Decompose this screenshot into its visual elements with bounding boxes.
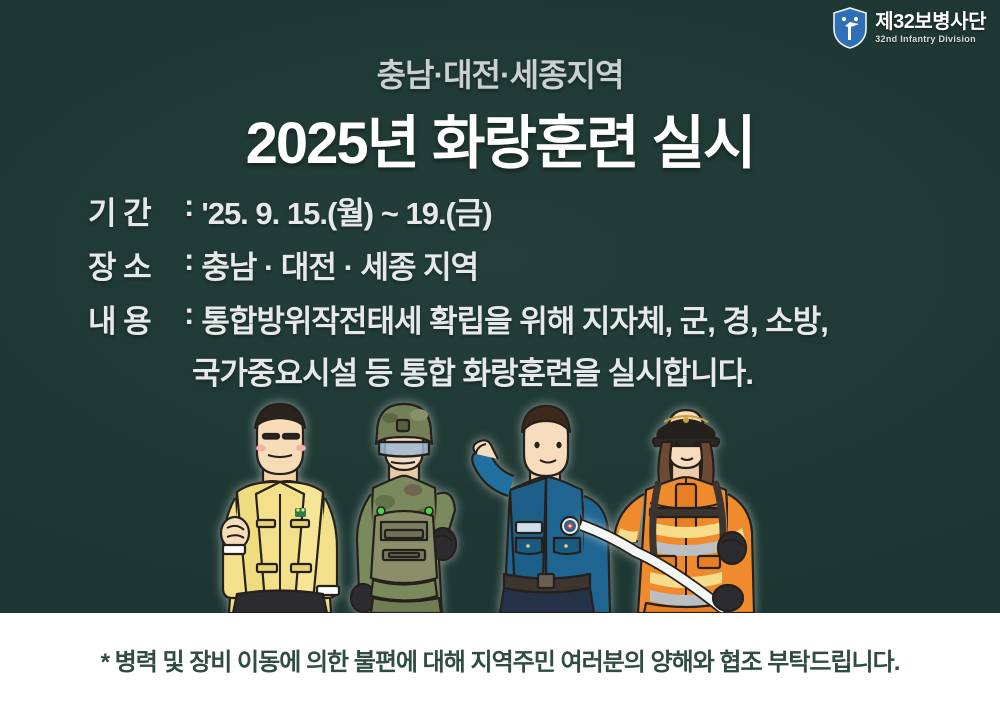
footer-note: * 병력 및 장비 이동에 의한 불편에 대해 지역주민 여러분의 양해와 협조… [101,642,900,677]
footer-bar: * 병력 및 장비 이동에 의한 불편에 대해 지역주민 여러분의 양해와 협조… [0,613,1000,706]
division-logo: 제32보병사단 32nd Infantry Division [832,7,986,49]
info-colon-location: : [184,242,201,278]
info-label-location: 장 소 [88,242,184,287]
green-panel: 제32보병사단 32nd Infantry Division 충남·대전·세종지… [0,0,1000,613]
info-row-content-continued: 국가중요시설 등 통합 화랑훈련을 실시합니다. [192,348,938,393]
character-group [0,398,1000,613]
poster-subtitle: 충남·대전·세종지역 [0,50,1000,96]
logo-name-en: 32nd Infantry Division [875,35,986,44]
info-value-content: 통합방위작전태세 확립을 위해 지자체, 군, 경, 소방, [201,296,828,341]
info-value-content-continued: 국가중요시설 등 통합 화랑훈련을 실시합니다. [192,348,753,393]
poster: 제32보병사단 32nd Infantry Division 충남·대전·세종지… [0,0,1000,706]
info-value-location: 충남 · 대전 · 세종 지역 [201,242,478,287]
logo-text-block: 제32보병사단 32nd Infantry Division [875,12,986,44]
info-label-period: 기 간 [88,188,184,233]
character-firefighter [580,398,770,613]
info-row-location: 장 소 : 충남 · 대전 · 세종 지역 [88,242,938,287]
logo-name-kr: 제32보병사단 [875,12,986,32]
info-row-content: 내 용 : 통합방위작전태세 확립을 위해 지자체, 군, 경, 소방, [88,296,938,341]
info-colon-period: : [184,188,201,224]
info-block: 기 간 : '25. 9. 15.(월) ~ 19.(금) 장 소 : 충남 ·… [88,188,938,402]
info-row-period: 기 간 : '25. 9. 15.(월) ~ 19.(금) [88,188,938,233]
info-label-content: 내 용 [88,296,184,341]
info-value-period: '25. 9. 15.(월) ~ 19.(금) [201,188,491,233]
info-colon-content: : [184,296,201,332]
poster-title: 2025년 화랑훈련 실시 [0,96,1000,180]
shield-icon [832,7,868,49]
